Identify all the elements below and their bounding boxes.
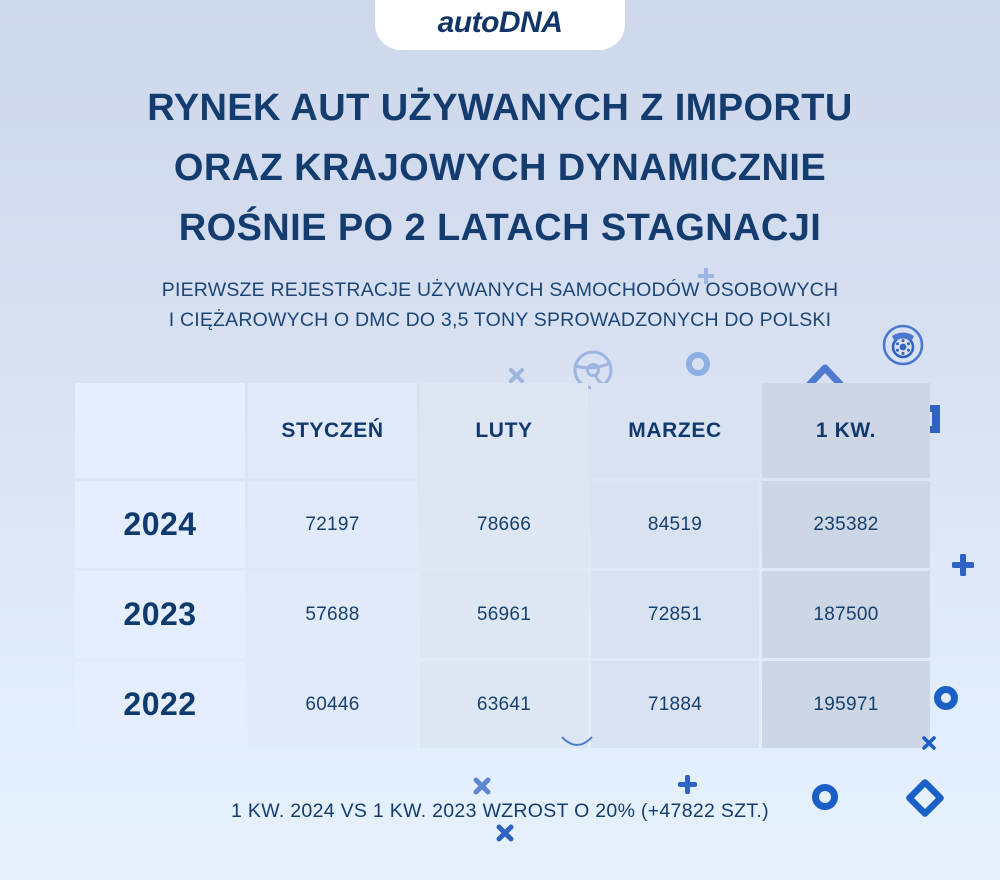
table-row-label-2022: 2022 [75,661,245,748]
registrations-table: STYCZEŃ LUTY MARZEC 1 KW. 2024 72197 786… [75,383,918,748]
cell-value: 60446 [305,694,359,716]
cell-value: 71884 [648,694,702,716]
ring-icon [686,352,710,376]
table-cell-2023-luty: 56961 [420,571,588,658]
table-row-label-2023: 2023 [75,571,245,658]
table-header-marzec: MARZEC [591,383,759,478]
table-cell-2024-luty: 78666 [420,481,588,568]
column-header-label: STYCZEŃ [281,419,383,443]
table-cell-2024-1kw: 235382 [762,481,930,568]
year-label: 2022 [123,686,196,723]
footer-note: 1 KW. 2024 VS 1 KW. 2023 WZROST O 20% (+… [0,800,1000,823]
table-cell-2024-marzec: 84519 [591,481,759,568]
year-label: 2023 [123,596,196,633]
x-mark-icon [508,367,525,384]
table-cell-2022-luty: 63641 [420,661,588,748]
cell-value: 195971 [813,694,878,716]
column-header-label: 1 KW. [816,419,876,443]
title-line-3: ROŚNIE PO 2 LATACH STAGNACJI [0,198,1000,258]
plus-icon [952,554,974,576]
ring-icon [934,686,958,710]
cell-value: 57688 [305,604,359,626]
table-cell-2024-styczen: 72197 [248,481,417,568]
table-cell-2023-1kw: 187500 [762,571,930,658]
page-title: RYNEK AUT UŻYWANYCH Z IMPORTU ORAZ KRAJO… [0,78,1000,258]
table-header-1kw: 1 KW. [762,383,930,478]
table-cell-2022-1kw: 195971 [762,661,930,748]
table-cell-2023-styczen: 57688 [248,571,417,658]
table-corner-cell [75,383,245,478]
cell-value: 187500 [813,604,878,626]
x-mark-icon [472,776,492,796]
autodna-logo: autoDNA [438,6,563,40]
table-header-luty: LUTY [420,383,588,478]
title-line-2: ORAZ KRAJOWYCH DYNAMICZNIE [0,138,1000,198]
cell-value: 235382 [813,514,878,536]
plus-icon [678,775,697,794]
x-mark-icon [495,823,515,843]
cell-value: 78666 [477,514,531,536]
year-label: 2024 [123,506,196,543]
page-subtitle: PIERWSZE REJESTRACJE UŻYWANYCH SAMOCHODÓ… [0,275,1000,335]
cell-value: 84519 [648,514,702,536]
cell-value: 72851 [648,604,702,626]
table-cell-2022-styczen: 60446 [248,661,417,748]
autodna-logo-badge: autoDNA [375,0,625,50]
table-header-styczen: STYCZEŃ [248,383,417,478]
column-header-label: MARZEC [628,419,721,443]
cell-value: 56961 [477,604,531,626]
subtitle-line-2: I CIĘŻAROWYCH O DMC DO 3,5 TONY SPROWADZ… [0,305,1000,335]
table-cell-2022-marzec: 71884 [591,661,759,748]
cell-value: 63641 [477,694,531,716]
table-row-label-2024: 2024 [75,481,245,568]
cell-value: 72197 [305,514,359,536]
column-header-label: LUTY [475,419,532,443]
subtitle-line-1: PIERWSZE REJESTRACJE UŻYWANYCH SAMOCHODÓ… [0,275,1000,305]
table-cell-2023-marzec: 72851 [591,571,759,658]
title-line-1: RYNEK AUT UŻYWANYCH Z IMPORTU [0,78,1000,138]
